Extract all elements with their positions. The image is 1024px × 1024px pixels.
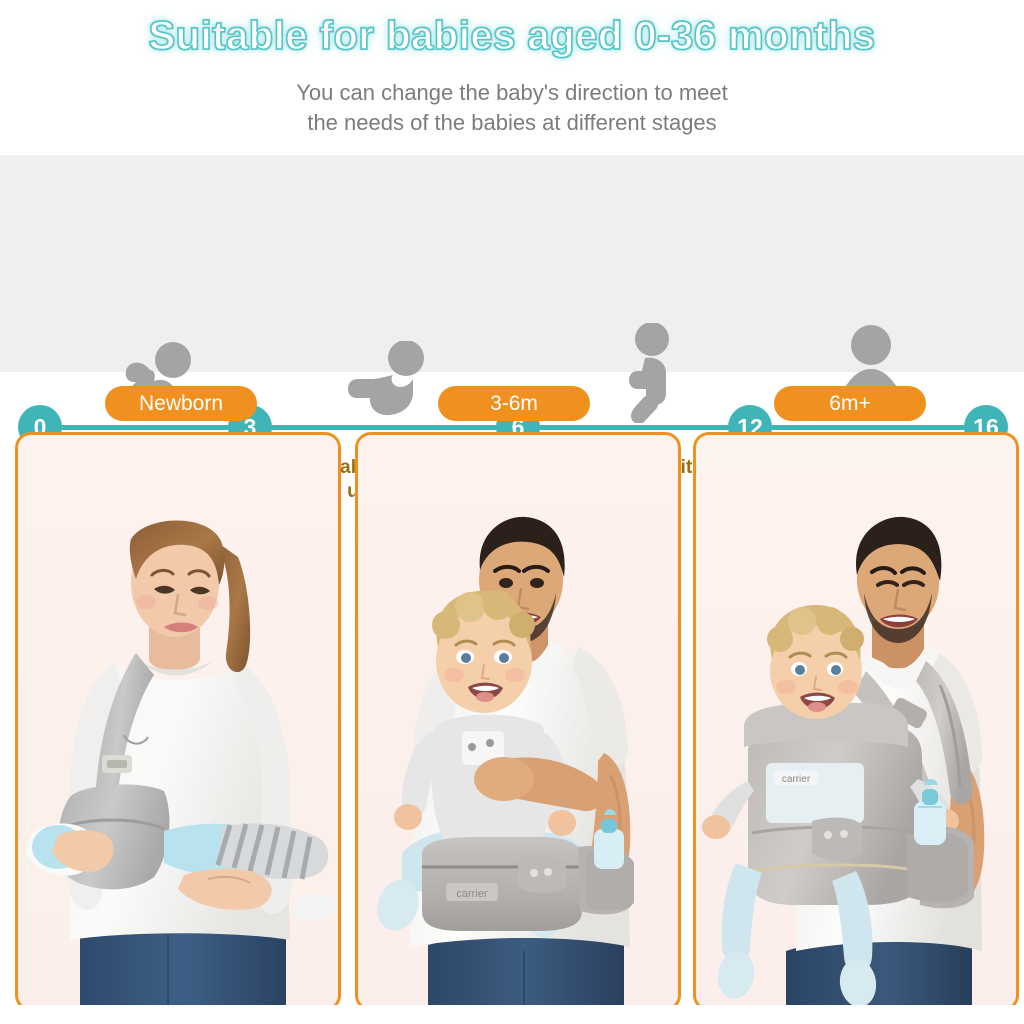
bottom-spacer (0, 1005, 1024, 1024)
photo-card-newborn[interactable] (15, 432, 341, 1011)
baby-sitting-icon (608, 323, 694, 423)
photo-newborn (18, 435, 338, 1008)
header-section: Suitable for babies aged 0-36 months You… (0, 0, 1024, 155)
baby-looking-up-icon (340, 341, 436, 417)
svg-text:carrier: carrier (456, 888, 488, 900)
tab-newborn[interactable]: Newborn (105, 386, 257, 421)
photo-3-6m: carrier (358, 435, 678, 1008)
timeline-section: 0 3 6 12 16 Newborn 0~3m Baby looking up… (0, 155, 1024, 372)
tab-3-6m[interactable]: 3-6m (438, 386, 590, 421)
subtitle-line-2: the needs of the babies at different sta… (0, 110, 1024, 136)
photo-card-6m-plus[interactable]: carrier (693, 432, 1019, 1011)
page-title: Suitable for babies aged 0-36 months (0, 14, 1024, 59)
photo-card-3-6m[interactable]: carrier (355, 432, 681, 1011)
svg-text:carrier: carrier (782, 774, 811, 785)
tab-6m-plus[interactable]: 6m+ (774, 386, 926, 421)
subtitle-line-1: You can change the baby's direction to m… (0, 80, 1024, 106)
photo-6m-plus: carrier (696, 435, 1016, 1008)
